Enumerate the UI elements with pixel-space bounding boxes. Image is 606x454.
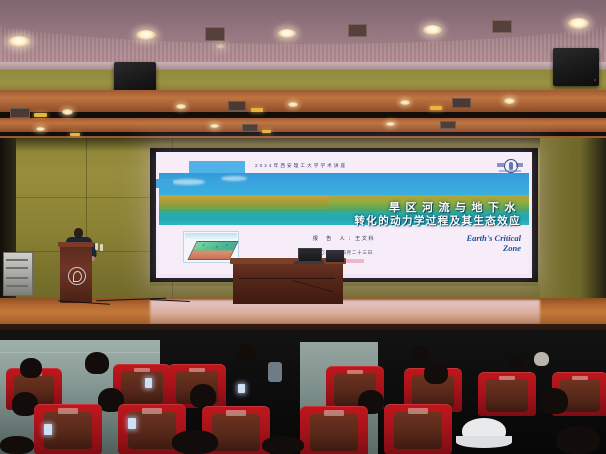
slat-amber-light-1 bbox=[34, 113, 47, 117]
speaker-podium[interactable] bbox=[60, 245, 92, 303]
university-emblem-icon bbox=[497, 159, 523, 172]
presenter-table bbox=[233, 262, 343, 304]
slat-vent-2 bbox=[228, 101, 246, 111]
ceiling-air-vent-3 bbox=[492, 20, 512, 33]
slat-vent-4 bbox=[242, 124, 258, 132]
ceiling-downlight-1 bbox=[8, 36, 30, 47]
audience-head-mid-3 bbox=[424, 362, 448, 384]
slat-amber-light-5 bbox=[262, 130, 271, 133]
ceiling-downlight-5 bbox=[568, 18, 589, 29]
audience-cap-brim bbox=[456, 436, 512, 448]
seat-number-plate bbox=[226, 410, 245, 416]
confidence-monitor[interactable] bbox=[326, 250, 344, 262]
slat-light-2 bbox=[176, 104, 186, 109]
audience-head-far-1 bbox=[238, 344, 255, 361]
rack-slot-2 bbox=[6, 267, 28, 269]
seat-number-plate bbox=[408, 408, 427, 414]
slat-light-7 bbox=[210, 124, 219, 128]
equipment-rack bbox=[3, 252, 33, 296]
slide-branding: Earth's Critical Zone bbox=[466, 233, 521, 253]
water-bottle-1 bbox=[95, 243, 98, 250]
seat-cushion bbox=[310, 414, 359, 451]
emblem-wing-left bbox=[497, 163, 504, 167]
audience-head-far-3 bbox=[534, 352, 549, 366]
audience-phone-3[interactable] bbox=[44, 424, 52, 435]
slat-light-5 bbox=[504, 98, 515, 104]
slide-title-line-2: 转化的动力学过程及其生态效应 bbox=[159, 213, 521, 228]
block-diagram-markers bbox=[193, 242, 237, 250]
wood-slat-row-2 bbox=[0, 118, 606, 132]
seat-number-plate bbox=[58, 408, 77, 414]
ceiling-downlight-3 bbox=[278, 29, 296, 38]
seat-cushion bbox=[486, 379, 528, 412]
podium-top-surface bbox=[58, 242, 94, 247]
emblem-underline bbox=[499, 170, 521, 172]
seat-number-plate bbox=[347, 370, 363, 375]
audience-head-far-2 bbox=[413, 346, 429, 362]
audience-head-row2-3 bbox=[190, 384, 216, 408]
audience-head-front-3 bbox=[556, 426, 600, 454]
slat-amber-light-4 bbox=[70, 133, 80, 136]
seat-number-plate bbox=[142, 408, 161, 414]
audience-head-far-4 bbox=[508, 355, 525, 372]
audience-phone-2[interactable] bbox=[238, 384, 245, 393]
audience-head-row2-5 bbox=[540, 388, 568, 414]
slide-header-text: 2024年西安理工大学学术讲座 bbox=[255, 163, 347, 169]
wall-panel-seam-3 bbox=[0, 196, 173, 198]
audience-phone-4[interactable] bbox=[128, 418, 136, 429]
emblem-wing-right bbox=[516, 163, 523, 167]
papers-on-table bbox=[346, 259, 364, 263]
ceiling-downlight-6 bbox=[216, 44, 225, 49]
seat-cushion bbox=[394, 412, 443, 449]
seat-row2-5[interactable] bbox=[384, 404, 452, 454]
branding-line-2: Zone bbox=[466, 243, 521, 253]
speaker-head bbox=[74, 228, 83, 238]
audience-head-front-2 bbox=[262, 436, 304, 454]
rack-slot-4 bbox=[6, 285, 28, 287]
slat-light-4 bbox=[400, 100, 410, 105]
slat-light-6 bbox=[36, 127, 45, 131]
seat-number-plate bbox=[324, 410, 343, 416]
aisle-edge-line bbox=[0, 352, 160, 353]
auditorium-scene: 2024年西安理工大学学术讲座 旱区河流与地下水 bbox=[0, 0, 606, 454]
slat-amber-light-3 bbox=[430, 106, 442, 110]
branding-line-1: Earth's Critical bbox=[466, 233, 521, 243]
seat-number-plate bbox=[499, 376, 515, 381]
university-seal-icon bbox=[68, 267, 86, 285]
ceiling-air-vent-2 bbox=[348, 24, 367, 37]
slide-accent-tag bbox=[156, 179, 173, 188]
wood-slat-row-1 bbox=[0, 90, 606, 112]
table-panel-line bbox=[239, 278, 335, 279]
table-diagonal-line bbox=[293, 280, 334, 293]
audience-phone-1[interactable] bbox=[145, 378, 152, 388]
water-bottle-2 bbox=[100, 244, 103, 251]
slat-light-3 bbox=[288, 102, 298, 107]
presenter-label: 报 告 人 bbox=[313, 236, 348, 242]
slat-light-8 bbox=[386, 122, 395, 126]
slat-vent-5 bbox=[440, 121, 456, 129]
slat-light-1 bbox=[62, 109, 73, 115]
audience-head-front-1 bbox=[172, 430, 218, 454]
wall-speaker-right bbox=[553, 48, 599, 86]
audience-head-mid-1 bbox=[20, 358, 42, 378]
seat-number-plate bbox=[572, 376, 588, 381]
stage-floor-reflection bbox=[150, 300, 540, 324]
ceiling-downlight-2 bbox=[136, 30, 156, 40]
seat-cushion bbox=[212, 414, 261, 451]
seat-cushion bbox=[121, 371, 163, 404]
slide-content-area: 2024年西安理工大学学术讲座 旱区河流与地下水 bbox=[159, 155, 529, 274]
slat-amber-light-2 bbox=[251, 108, 263, 112]
audience-backpack bbox=[268, 362, 282, 382]
ceiling bbox=[0, 0, 606, 70]
presenter-name: 王文科 bbox=[355, 236, 375, 242]
presenter-separator: ： bbox=[348, 236, 355, 242]
rack-slot-1 bbox=[6, 259, 28, 261]
seat-number-plate bbox=[189, 368, 205, 373]
laptop-keyboard-base[interactable] bbox=[293, 261, 324, 264]
seat-row2-4[interactable] bbox=[300, 406, 368, 454]
seat-row3-5[interactable] bbox=[478, 372, 536, 416]
wall-right-section bbox=[540, 138, 606, 300]
audience-head-mid-2 bbox=[85, 352, 109, 374]
slat-vent-3 bbox=[452, 98, 471, 108]
slat-vent-1 bbox=[10, 108, 30, 118]
ceiling-air-vent-1 bbox=[205, 27, 225, 41]
audience-head-front-4 bbox=[0, 436, 34, 454]
seat-number-plate bbox=[134, 368, 150, 373]
rack-slot-3 bbox=[6, 277, 28, 279]
ceiling-downlight-4 bbox=[423, 25, 442, 35]
